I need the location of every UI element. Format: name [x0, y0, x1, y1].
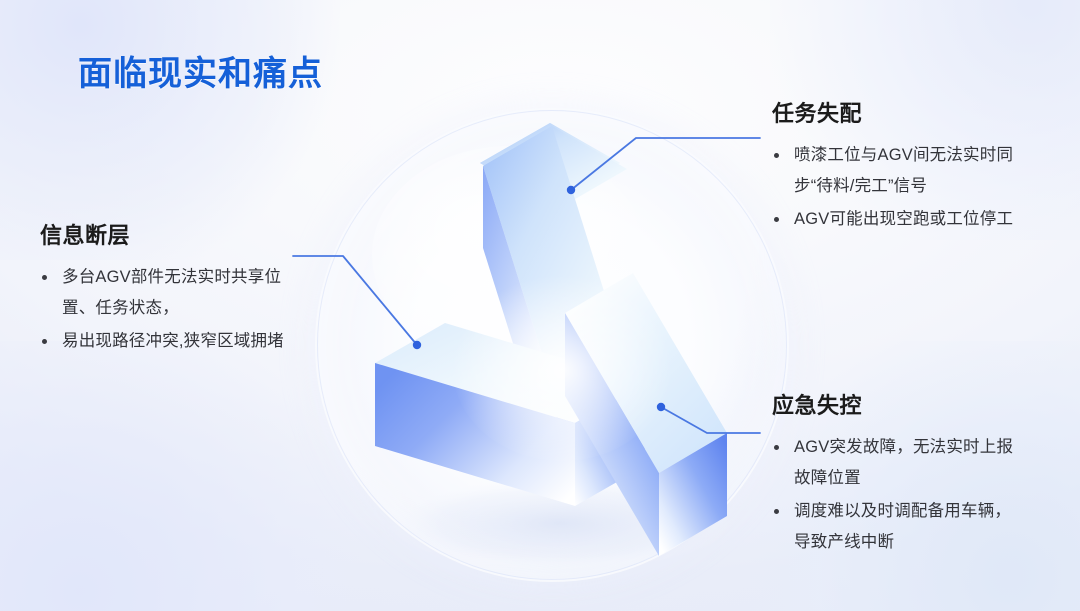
bullet-dot-icon — [774, 509, 779, 514]
list-item: AGV突发故障，无法实时上报故障位置 — [772, 432, 1024, 494]
callout-bullets-left: 多台AGV部件无法实时共享位置、任务状态， 易出现路径冲突,狭窄区域拥堵 — [40, 262, 292, 357]
background-tint-bottom-left — [0, 341, 360, 611]
list-item: 易出现路径冲突,狭窄区域拥堵 — [40, 326, 292, 357]
bullet-dot-icon — [42, 275, 47, 280]
slide-canvas: 面临现实和痛点 — [0, 0, 1080, 611]
callout-title-top-right: 任务失配 — [772, 96, 1020, 128]
callout-title-left: 信息断层 — [40, 218, 292, 250]
bullet-text: 多台AGV部件无法实时共享位置、任务状态， — [62, 268, 281, 317]
bullet-text: 喷漆工位与AGV间无法实时同步“待料/完工”信号 — [794, 146, 1013, 195]
list-item: AGV可能出现空跑或工位停工 — [772, 204, 1020, 235]
callout-block-left: 信息断层 多台AGV部件无法实时共享位置、任务状态， 易出现路径冲突,狭窄区域拥… — [40, 218, 292, 359]
bullet-text: 调度难以及时调配备用车辆，导致产线中断 — [794, 502, 1011, 551]
list-item: 多台AGV部件无法实时共享位置、任务状态， — [40, 262, 292, 324]
bullet-text: AGV突发故障，无法实时上报故障位置 — [794, 438, 1013, 487]
bullet-text: AGV可能出现空跑或工位停工 — [794, 210, 1013, 228]
bullet-dot-icon — [774, 445, 779, 450]
callout-block-bottom-right: 应急失控 AGV突发故障，无法实时上报故障位置 调度难以及时调配备用车辆，导致产… — [772, 388, 1024, 560]
bullet-dot-icon — [42, 339, 47, 344]
bullet-dot-icon — [774, 153, 779, 158]
callout-block-top-right: 任务失配 喷漆工位与AGV间无法实时同步“待料/完工”信号 AGV可能出现空跑或… — [772, 96, 1020, 237]
triskelion-icon — [315, 108, 789, 582]
callout-title-bottom-right: 应急失控 — [772, 388, 1024, 420]
bullet-text: 易出现路径冲突,狭窄区域拥堵 — [62, 332, 284, 350]
callout-bullets-bottom-right: AGV突发故障，无法实时上报故障位置 调度难以及时调配备用车辆，导致产线中断 — [772, 432, 1024, 558]
page-title: 面临现实和痛点 — [78, 46, 323, 95]
list-item: 喷漆工位与AGV间无法实时同步“待料/完工”信号 — [772, 140, 1020, 202]
list-item: 调度难以及时调配备用车辆，导致产线中断 — [772, 496, 1024, 558]
callout-bullets-top-right: 喷漆工位与AGV间无法实时同步“待料/完工”信号 AGV可能出现空跑或工位停工 — [772, 140, 1020, 235]
bullet-dot-icon — [774, 217, 779, 222]
central-graphic — [315, 108, 789, 582]
